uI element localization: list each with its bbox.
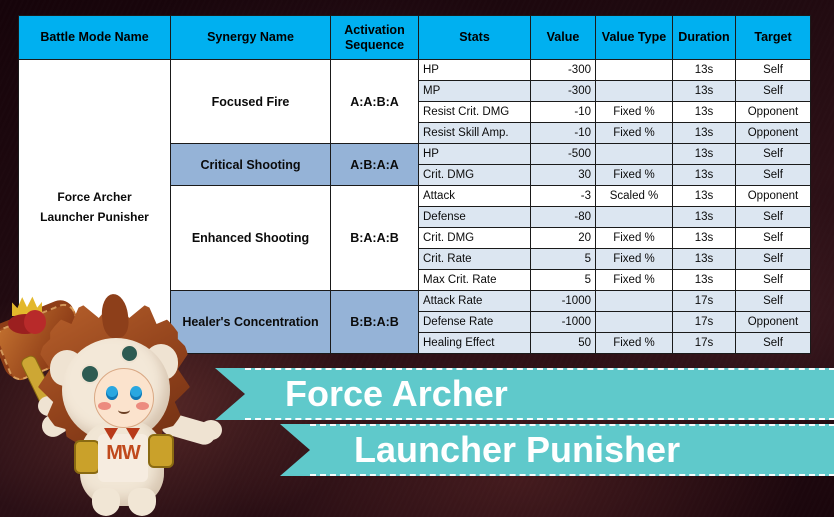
- cell-stat: Crit. DMG: [419, 165, 531, 186]
- mascot-eye-right: [130, 386, 142, 400]
- banner-title-line2: Launcher Punisher: [354, 429, 680, 471]
- screenshot-root: mw mr. wormy . ultimate source of cabal …: [0, 0, 834, 517]
- mascot-face: [94, 368, 154, 428]
- cell-value-type: [596, 291, 673, 312]
- cell-value: -500: [531, 144, 596, 165]
- mascot-drum-left: [74, 440, 100, 474]
- cell-value: 30: [531, 165, 596, 186]
- mascot-cheek-right: [136, 402, 149, 410]
- battle-mode-line-2: Launcher Punisher: [23, 207, 166, 227]
- cell-duration: 13s: [673, 270, 736, 291]
- cell-value: -300: [531, 60, 596, 81]
- cell-value-type: [596, 207, 673, 228]
- table-row: Force ArcherLauncher PunisherFocused Fir…: [19, 60, 811, 81]
- cell-duration: 13s: [673, 207, 736, 228]
- cell-activation-sequence: B:A:A:B: [331, 186, 419, 291]
- cell-stat: Resist Crit. DMG: [419, 102, 531, 123]
- cell-value-type: Fixed %: [596, 228, 673, 249]
- column-header-duration: Duration: [673, 16, 736, 60]
- cell-target: Self: [736, 228, 811, 249]
- mascot-eye-left: [106, 386, 118, 400]
- cell-target: Self: [736, 144, 811, 165]
- cell-value: -300: [531, 81, 596, 102]
- cell-target: Self: [736, 165, 811, 186]
- cell-target: Opponent: [736, 186, 811, 207]
- mascot-pennant-left: [104, 428, 118, 440]
- cell-stat: Healing Effect: [419, 333, 531, 354]
- mascot-pennant-right: [126, 428, 140, 440]
- cell-duration: 17s: [673, 333, 736, 354]
- mascot-mouth: [118, 406, 130, 414]
- cell-target: Opponent: [736, 102, 811, 123]
- cell-synergy-name: Enhanced Shooting: [171, 186, 331, 291]
- cell-stat: HP: [419, 144, 531, 165]
- cell-duration: 13s: [673, 144, 736, 165]
- cell-value: 5: [531, 249, 596, 270]
- title-banner-line2: Launcher Punisher: [310, 424, 834, 476]
- cell-target: Self: [736, 60, 811, 81]
- mascot-leg-right: [128, 488, 156, 516]
- cell-value: 20: [531, 228, 596, 249]
- mascot-chest-label: MW: [100, 442, 146, 465]
- cell-value-type: [596, 81, 673, 102]
- cell-stat: Attack Rate: [419, 291, 531, 312]
- column-header-activation-sequence: Activation Sequence: [331, 16, 419, 60]
- table-header: Battle Mode Name Synergy Name Activation…: [19, 16, 811, 60]
- cell-value-type: [596, 144, 673, 165]
- cell-target: Opponent: [736, 123, 811, 144]
- column-header-synergy-name: Synergy Name: [171, 16, 331, 60]
- cell-duration: 13s: [673, 228, 736, 249]
- bow-icon-inner: [24, 310, 46, 334]
- cell-duration: 13s: [673, 60, 736, 81]
- cell-value-type: Fixed %: [596, 249, 673, 270]
- mascot-paw-right: [200, 420, 222, 440]
- cell-stat: Resist Skill Amp.: [419, 123, 531, 144]
- column-header-battle-mode-name: Battle Mode Name: [19, 16, 171, 60]
- cell-value: -1000: [531, 291, 596, 312]
- cell-synergy-name: Critical Shooting: [171, 144, 331, 186]
- cell-duration: 13s: [673, 102, 736, 123]
- column-header-value: Value: [531, 16, 596, 60]
- cell-stat: Crit. DMG: [419, 228, 531, 249]
- cell-duration: 17s: [673, 312, 736, 333]
- cell-value: 5: [531, 270, 596, 291]
- battle-mode-line-1: Force Archer: [23, 187, 166, 207]
- cell-target: Self: [736, 291, 811, 312]
- mascot-outer-eye-right: [120, 344, 139, 363]
- banner-title-line1: Force Archer: [285, 373, 508, 415]
- mascot-drum-right: [148, 434, 174, 468]
- cell-value: -10: [531, 102, 596, 123]
- mascot-cheek-left: [98, 402, 111, 410]
- cell-value-type: Fixed %: [596, 102, 673, 123]
- cell-value-type: [596, 60, 673, 81]
- cell-value: -10: [531, 123, 596, 144]
- cell-value-type: Fixed %: [596, 333, 673, 354]
- cell-duration: 13s: [673, 123, 736, 144]
- cell-stat: Max Crit. Rate: [419, 270, 531, 291]
- cell-stat: Crit. Rate: [419, 249, 531, 270]
- cell-stat: MP: [419, 81, 531, 102]
- column-header-target: Target: [736, 16, 811, 60]
- cell-activation-sequence: A:A:B:A: [331, 60, 419, 144]
- cell-target: Self: [736, 270, 811, 291]
- column-header-stats: Stats: [419, 16, 531, 60]
- cell-value-type: Scaled %: [596, 186, 673, 207]
- column-header-value-type: Value Type: [596, 16, 673, 60]
- cell-activation-sequence: B:B:A:B: [331, 291, 419, 354]
- cell-value-type: [596, 312, 673, 333]
- cell-stat: Defense: [419, 207, 531, 228]
- mascot-illustration: MW: [0, 292, 226, 517]
- mascot-leg-left: [92, 488, 120, 516]
- title-banner-line1: Force Archer: [245, 368, 834, 420]
- cell-duration: 17s: [673, 291, 736, 312]
- cell-stat: Attack: [419, 186, 531, 207]
- cell-duration: 13s: [673, 186, 736, 207]
- cell-stat: HP: [419, 60, 531, 81]
- cell-target: Self: [736, 333, 811, 354]
- cell-synergy-name: Focused Fire: [171, 60, 331, 144]
- cell-value: -80: [531, 207, 596, 228]
- cell-value: -1000: [531, 312, 596, 333]
- cell-duration: 13s: [673, 165, 736, 186]
- cell-duration: 13s: [673, 249, 736, 270]
- mascot-outer-eye-left: [80, 364, 100, 384]
- cell-target: Self: [736, 81, 811, 102]
- cell-duration: 13s: [673, 81, 736, 102]
- cell-activation-sequence: A:B:A:A: [331, 144, 419, 186]
- cell-value-type: Fixed %: [596, 270, 673, 291]
- cell-target: Opponent: [736, 312, 811, 333]
- cell-value: 50: [531, 333, 596, 354]
- cell-target: Self: [736, 207, 811, 228]
- cell-stat: Defense Rate: [419, 312, 531, 333]
- cell-value-type: Fixed %: [596, 165, 673, 186]
- cell-target: Self: [736, 249, 811, 270]
- cell-value-type: Fixed %: [596, 123, 673, 144]
- header-row: Battle Mode Name Synergy Name Activation…: [19, 16, 811, 60]
- cell-value: -3: [531, 186, 596, 207]
